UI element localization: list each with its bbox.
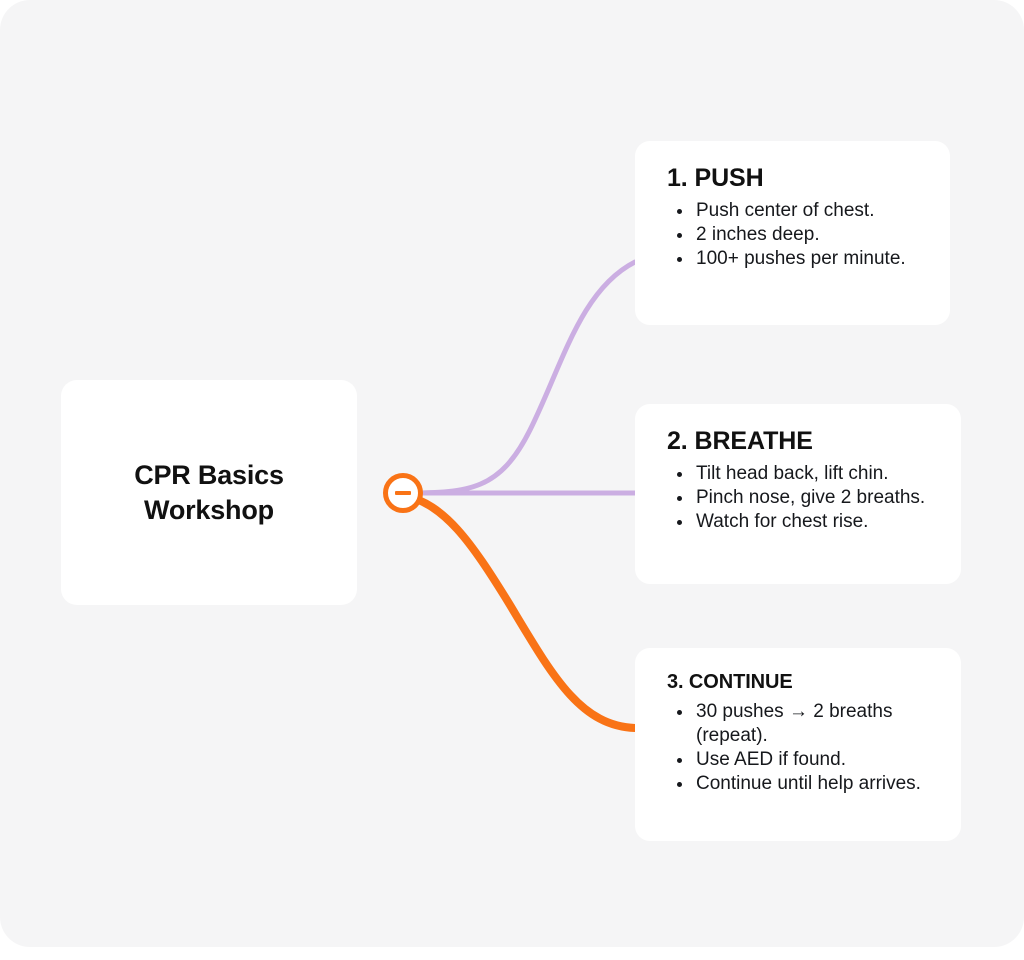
list-item: 2 inches deep. [667, 223, 926, 247]
branch-card-title: 2. BREATHE [667, 426, 937, 456]
list-item: Pinch nose, give 2 breaths. [667, 486, 937, 510]
mindmap-canvas: CPR Basics Workshop 1. PUSH Push center … [0, 0, 1024, 960]
branch-card-title: 1. PUSH [667, 163, 926, 193]
branch-card-list: Push center of chest. 2 inches deep. 100… [667, 199, 926, 271]
list-item: Push center of chest. [667, 199, 926, 223]
root-node[interactable]: CPR Basics Workshop [61, 380, 357, 605]
branch-card-push[interactable]: 1. PUSH Push center of chest. 2 inches d… [635, 141, 950, 325]
branch-card-breathe[interactable]: 2. BREATHE Tilt head back, lift chin. Pi… [635, 404, 961, 584]
branch-card-title: 3. CONTINUE [667, 670, 937, 694]
edge-to-push [405, 262, 635, 493]
list-item: Continue until help arrives. [667, 772, 937, 796]
list-item: 30 pushes → 2 breaths (repeat). [667, 700, 937, 748]
branch-card-list: Tilt head back, lift chin. Pinch nose, g… [667, 462, 937, 534]
root-node-title: CPR Basics Workshop [87, 458, 331, 527]
list-item: Watch for chest rise. [667, 510, 937, 534]
minus-icon [395, 491, 411, 495]
collapse-toggle-button[interactable] [383, 473, 423, 513]
branch-card-list: 30 pushes → 2 breaths (repeat). Use AED … [667, 700, 937, 796]
branch-card-continue[interactable]: 3. CONTINUE 30 pushes → 2 breaths (repea… [635, 648, 961, 841]
list-item: Use AED if found. [667, 748, 937, 772]
edge-to-continue [404, 495, 635, 728]
list-item: 100+ pushes per minute. [667, 247, 926, 271]
list-item: Tilt head back, lift chin. [667, 462, 937, 486]
